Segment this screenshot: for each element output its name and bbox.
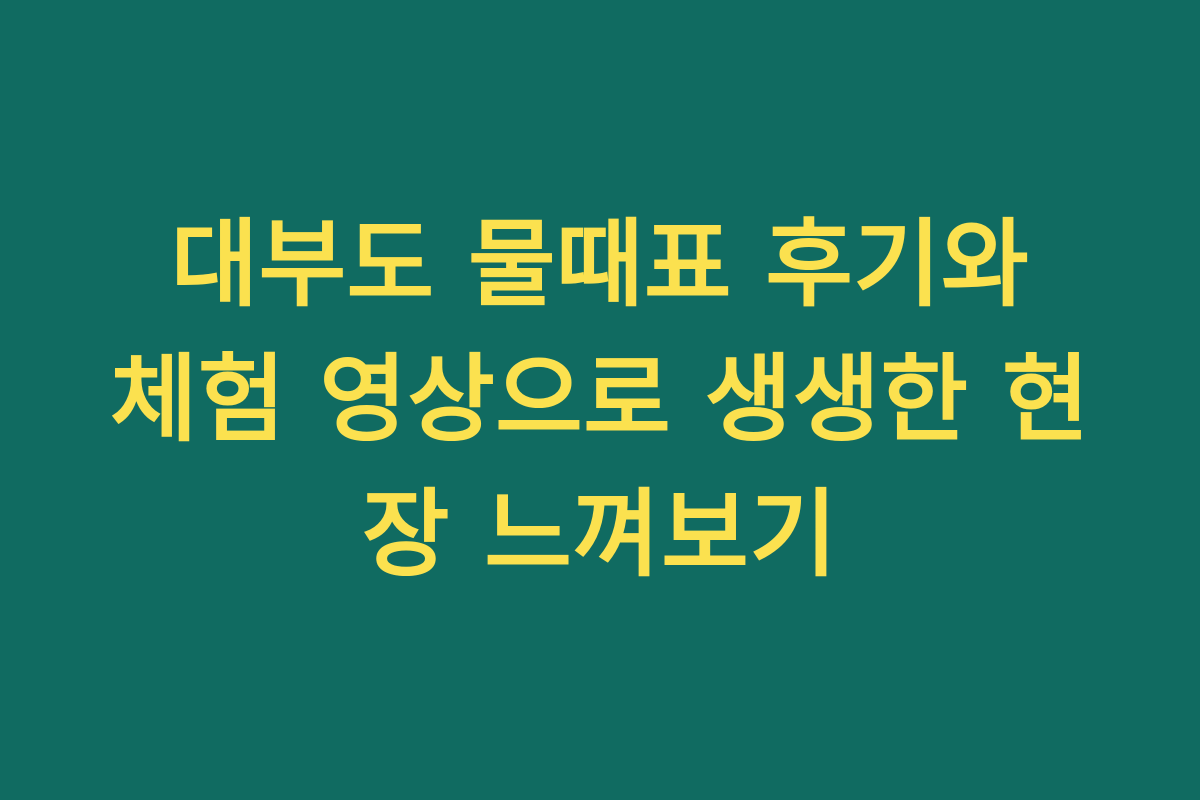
title-line-2: 체험 영상으로 생생한 현 (60, 333, 1140, 468)
title-line-3: 장 느껴보기 (60, 468, 1140, 603)
banner-canvas: 대부도 물때표 후기와 체험 영상으로 생생한 현 장 느껴보기 (0, 0, 1200, 800)
page-title: 대부도 물때표 후기와 체험 영상으로 생생한 현 장 느껴보기 (60, 198, 1140, 603)
title-line-1: 대부도 물때표 후기와 (60, 198, 1140, 333)
